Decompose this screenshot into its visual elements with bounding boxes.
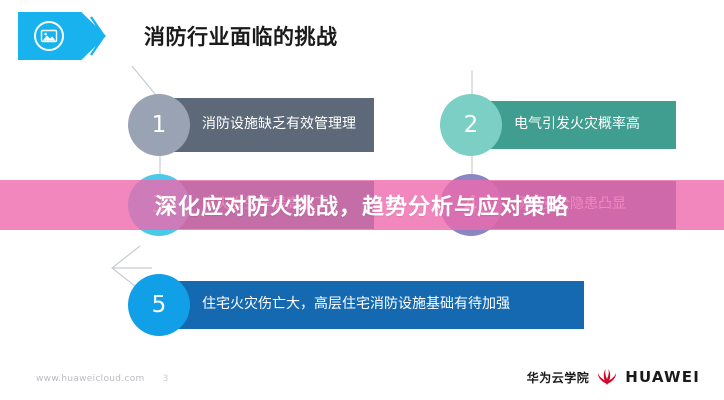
step-item-1[interactable]: 1 消防设施缺乏有效管理理 [128, 94, 374, 156]
brand-name-en: HUAWEI [625, 368, 700, 386]
step-label-box: 住宅火灾伤亡大，高层住宅消防设施基础有待加强 [164, 281, 584, 329]
step-item-2[interactable]: 2 电气引发火灾概率高 [440, 94, 676, 156]
step-item-5[interactable]: 5 住宅火灾伤亡大，高层住宅消防设施基础有待加强 [128, 274, 584, 336]
photo-image-icon [34, 21, 64, 51]
slide-header: 消防行业面临的挑战 [18, 12, 338, 60]
slide-canvas: 消防行业面临的挑战 1 消防设施缺乏有效管理理 2 电气引发火灾概率高 3 火灾… [0, 0, 724, 400]
huawei-flower-icon [596, 368, 618, 386]
footer-left: www.huaweicloud.com 3 [36, 374, 168, 384]
step-number-badge: 2 [440, 94, 502, 156]
brand-logo: 华为云学院 HUAWEI [527, 368, 700, 386]
overlay-banner: 深化应对防火挑战，趋势分析与应对策略 [0, 180, 724, 230]
chevron-right-icon [88, 12, 108, 60]
step-number-badge: 5 [128, 274, 190, 336]
page-title: 消防行业面临的挑战 [144, 21, 338, 51]
step-label-box: 消防设施缺乏有效管理理 [164, 98, 374, 152]
overlay-banner-text: 深化应对防火挑战，趋势分析与应对策略 [155, 189, 569, 221]
step-label-box: 电气引发火灾概率高 [476, 101, 676, 149]
brand-name-cn: 华为云学院 [527, 369, 590, 386]
footer-url[interactable]: www.huaweicloud.com [36, 374, 145, 384]
page-number: 3 [163, 374, 169, 384]
step-number-badge: 1 [128, 94, 190, 156]
